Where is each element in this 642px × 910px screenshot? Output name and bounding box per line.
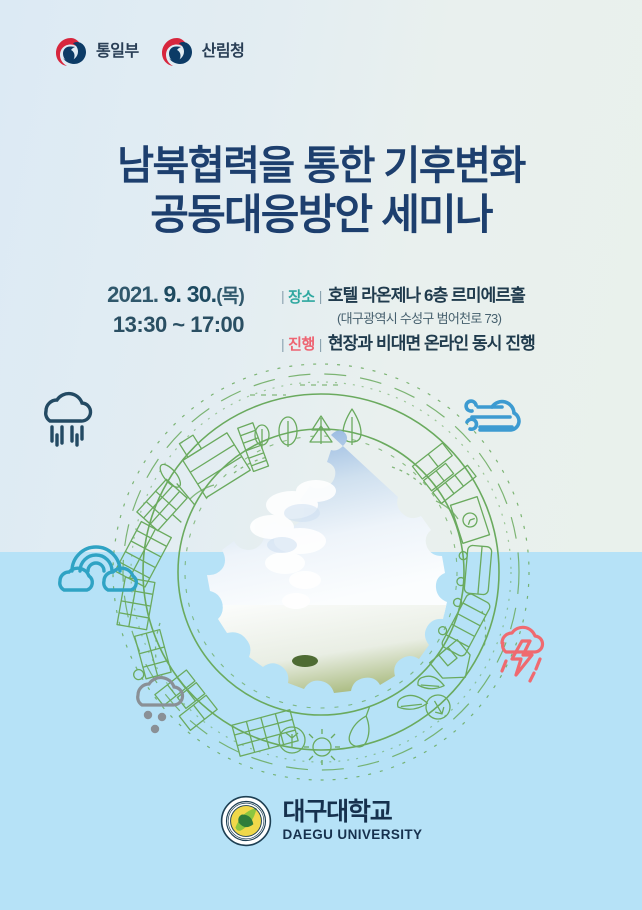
event-place-row: | 장소 | 호텔 라온제나 6층 르미에르홀 [281, 281, 535, 307]
daegu-university-seal-icon [220, 795, 272, 847]
mode-label-text: 진행 [288, 333, 315, 354]
organizer-logos: 통일부 산림청 [55, 36, 244, 68]
ladder-building-icon [238, 423, 269, 472]
host-university: 대구대학교 DAEGU UNIVERSITY [0, 795, 642, 847]
event-datetime: 2021. 9. 30.(목) 13:30 ~ 17:00 [107, 279, 244, 340]
university-name-kr: 대구대학교 [283, 800, 423, 825]
date-monthday: 9. 30. [164, 281, 217, 307]
place-label: | 장소 | [281, 286, 322, 307]
organizer-logo-forest-service: 산림청 [161, 36, 245, 68]
university-name-en: DAEGU UNIVERSITY [283, 828, 423, 842]
leaf-icon [395, 689, 427, 720]
bar-left: | [281, 336, 284, 352]
place-address: (대구광역시 수성구 범어천로 73) [337, 308, 535, 327]
central-illustration [0, 355, 642, 785]
solar-panel-icon [137, 479, 196, 538]
thunderstorm-cloud-icon [502, 627, 543, 681]
event-info: 2021. 9. 30.(목) 13:30 ~ 17:00 | 장소 | 호텔 … [0, 279, 642, 354]
house-icon [430, 640, 479, 689]
bar-right: | [319, 336, 322, 352]
clock-building-icon [451, 497, 490, 544]
tree-icon [255, 425, 269, 449]
government-taegeuk-icon [161, 36, 193, 68]
rain-cloud-icon [46, 394, 91, 445]
event-details: | 장소 | 호텔 라온제나 6층 르미에르홀 (대구광역시 수성구 범어천로 … [281, 279, 535, 354]
event-date: 2021. 9. 30.(목) [107, 280, 244, 310]
date-year: 2021. [107, 282, 158, 307]
korean-peninsula-map [180, 415, 470, 785]
organizer-name: 통일부 [96, 44, 139, 60]
jeju-island [292, 655, 318, 667]
date-dayofweek: (목) [216, 286, 244, 307]
poster-canvas: 통일부 산림청 남북협력을 통한 기후변화 공동대응방안 세미나 2021. 9… [0, 0, 642, 910]
poster-title: 남북협력을 통한 기후변화 공동대응방안 세미나 [0, 143, 642, 240]
event-time: 13:30 ~ 17:00 [107, 310, 244, 340]
title-line-1: 남북협력을 통한 기후변화 [0, 143, 642, 190]
government-taegeuk-icon [55, 36, 87, 68]
bus-icon [456, 544, 492, 595]
place-value: 호텔 라온제나 6층 르미에르홀 [328, 281, 525, 306]
bar-right: | [319, 288, 322, 304]
tree-icon [310, 416, 332, 444]
sun-icon [304, 729, 340, 765]
organizer-name: 산림청 [202, 44, 245, 60]
place-label-text: 장소 [288, 286, 315, 307]
organizer-logo-unification: 통일부 [55, 36, 139, 68]
bar-left: | [281, 288, 284, 304]
snow-cloud-icon [138, 678, 183, 732]
title-line-2: 공동대응방안 세미나 [0, 190, 642, 240]
windmill-icon [157, 461, 200, 509]
mode-label: | 진행 | [281, 333, 322, 354]
wind-cloud-icon [466, 401, 519, 430]
mode-value: 현장과 비대면 온라인 동시 진행 [328, 329, 535, 354]
university-name: 대구대학교 DAEGU UNIVERSITY [283, 800, 423, 842]
info-divider [262, 279, 263, 354]
event-mode-row: | 진행 | 현장과 비대면 온라인 동시 진행 [281, 329, 535, 355]
solar-farm-icon [232, 710, 298, 756]
